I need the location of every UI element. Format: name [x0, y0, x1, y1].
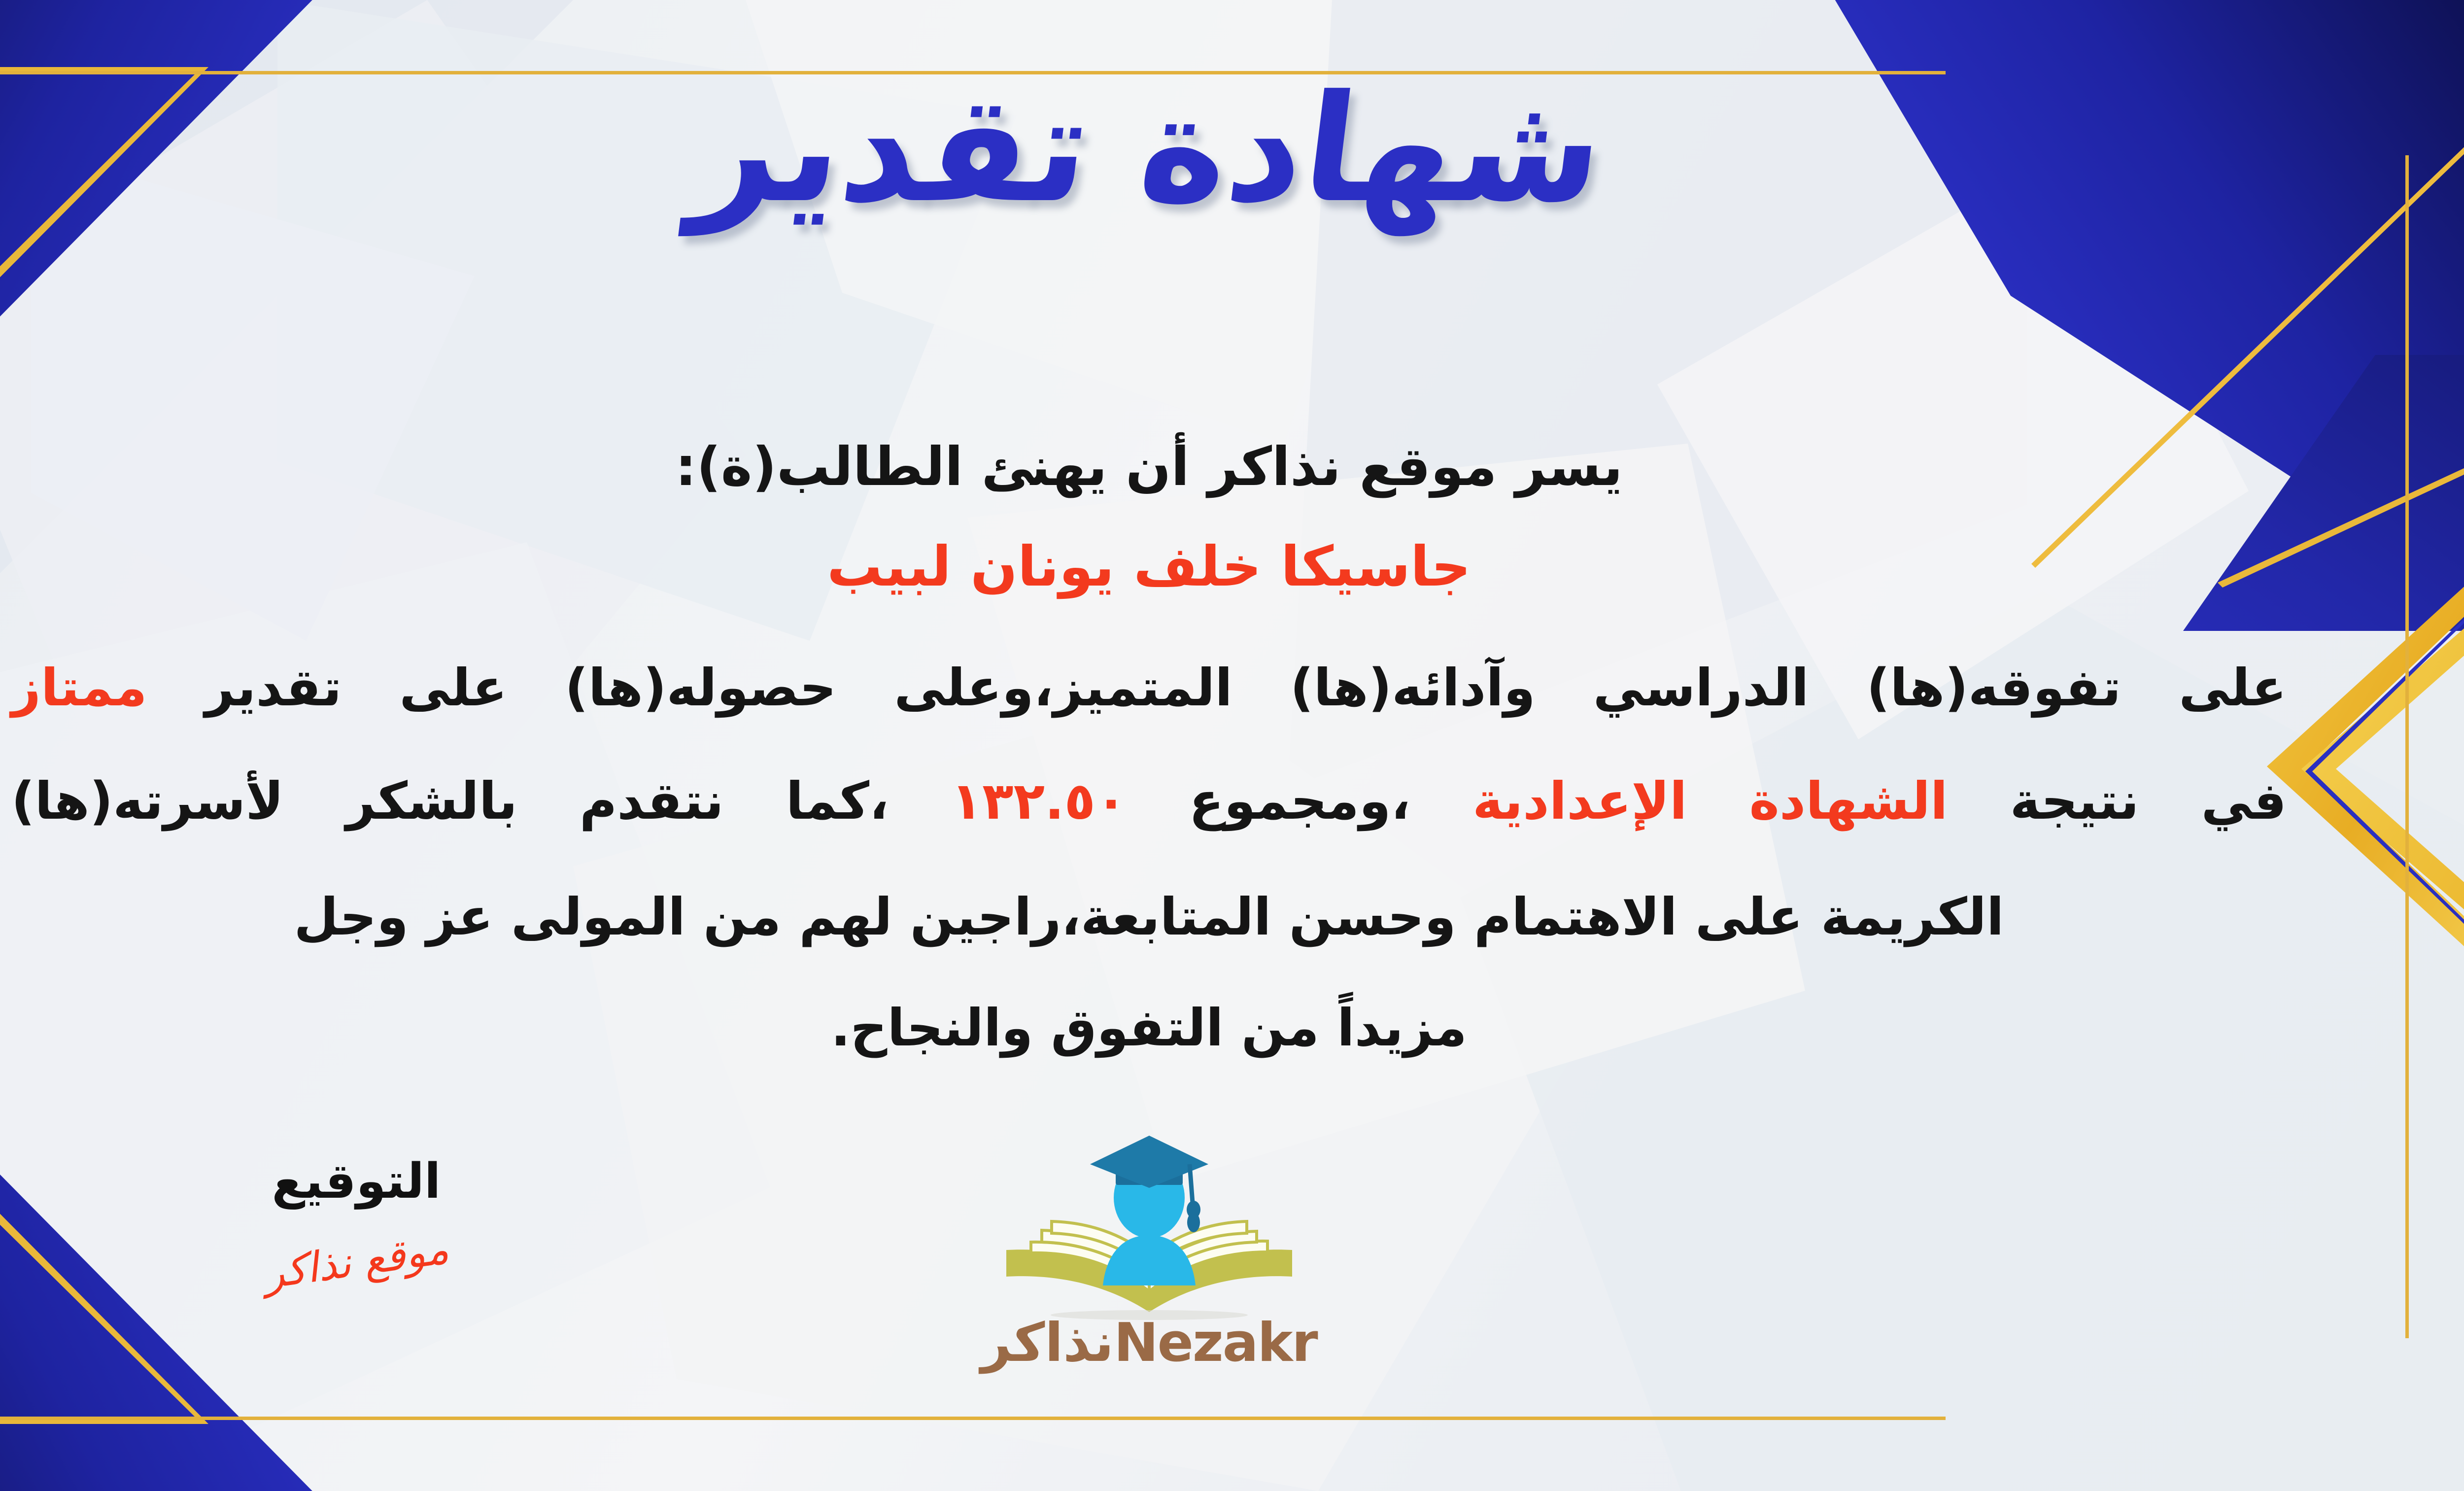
logo-wordmark: Nezakrنذاكر [977, 1312, 1322, 1374]
graduate-book-icon [977, 1129, 1322, 1321]
signature-block: التوقيع موقع نذاكر [199, 1153, 514, 1285]
certificate-content: شهادة تقدير يسر موقع نذاكر أن يهنئ الطال… [0, 0, 2464, 1491]
grade-value: ممتاز [11, 658, 147, 718]
site-logo: Nezakrنذاكر [977, 1129, 1322, 1374]
exam-name: الشهادة الإعدادية [1472, 771, 1948, 831]
achievement-paragraph: على تفوقه(ها) الدراسي وآدائه(ها) المتميز… [11, 656, 2287, 720]
closing-paragraph: مزيداً من التفوق والنجاح. [0, 996, 2301, 1060]
exam-paragraph: في نتيجة الشهادة الإعدادية ،ومجموع ١٣٢.٥… [11, 769, 2287, 833]
achievement-text: على تفوقه(ها) الدراسي وآدائه(ها) المتميز… [205, 658, 2287, 718]
exam-prefix: في نتيجة [2010, 771, 2287, 831]
student-name: جاسيكا خلف يونان لبيب [0, 532, 2301, 601]
thanks-text: ،كما نتقدم بالشكر لأسرته(ها) [11, 771, 889, 831]
total-prefix: ،ومجموع [1189, 771, 1410, 831]
certificate-title: شهادة تقدير [0, 64, 2464, 234]
signature-label: التوقيع [199, 1153, 514, 1210]
family-thanks-paragraph: الكريمة على الاهتمام وحسن المتابعة،راجين… [0, 885, 2301, 949]
intro-text: يسر موقع نذاكر أن يهنئ الطالب(ة): [0, 434, 2301, 500]
total-score: ١٣٢.٥٠ [951, 771, 1127, 831]
certificate-canvas: شهادة تقدير يسر موقع نذاكر أن يهنئ الطال… [0, 0, 2464, 1491]
signature-handwritten: موقع نذاكر [261, 1224, 451, 1298]
